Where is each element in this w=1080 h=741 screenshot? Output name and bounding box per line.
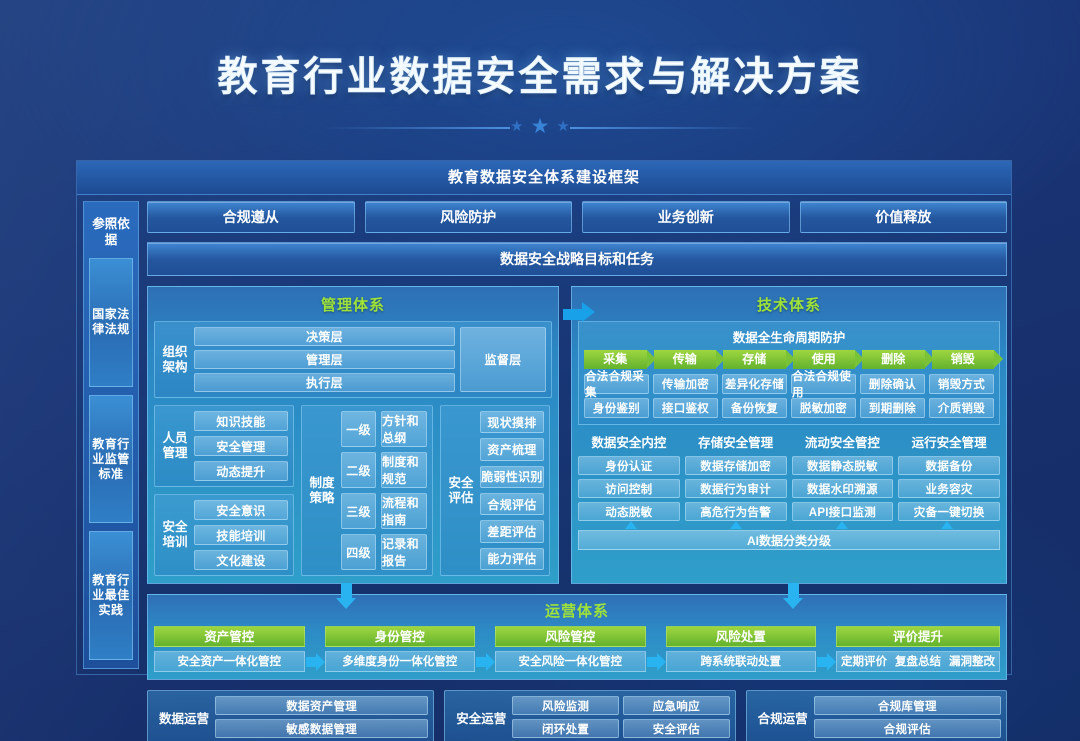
tech-column-head: 运行安全管理 (898, 432, 1000, 452)
tech-item[interactable]: 高危行为告警 (685, 502, 787, 521)
lifecycle-measure[interactable]: 到期删除 (860, 398, 925, 418)
lifecycle-stage-row: 采集 传输 存储 使用 删除 销毁 (584, 350, 994, 369)
ops-column-asset: 资产管控 安全资产一体化管控 (154, 626, 305, 672)
policy-group: 制度策略 一级 方针和总纲 二级 制度和规范 三级 (301, 405, 433, 576)
ops-arrow-icon (475, 626, 495, 672)
tech-item[interactable]: 数据水印溯源 (792, 479, 894, 498)
ai-classification-bar[interactable]: AI数据分类分级 (578, 530, 1000, 550)
strategy-bar: 数据安全战略目标和任务 (147, 242, 1007, 276)
ops-sub[interactable]: 安全资产一体化管控 (154, 651, 305, 672)
personnel-label: 人员管理 (160, 411, 194, 481)
bottom-item[interactable]: 数据资产管理 (215, 696, 428, 715)
star-group: ★ ★ ★ (0, 116, 1080, 137)
lifecycle-measure[interactable]: 脱敏加密 (791, 398, 856, 418)
page-title: 教育行业数据安全需求与解决方案 (0, 44, 1080, 102)
ops-head[interactable]: 风险处置 (666, 626, 817, 647)
assessment-item-vulnerability[interactable]: 脆弱性识别 (480, 466, 544, 488)
up-arrow-icon (625, 521, 637, 529)
compliance-operations-label: 合规运营 (752, 696, 814, 738)
data-operations-group: 数据运营 数据资产管理 敏感数据管理 (147, 690, 434, 741)
lifecycle-measure-row: 合法合规采集 传输加密 差异化存储 合法合规使用 删除确认 销毁方式 (584, 374, 994, 394)
policy-label: 制度策略 (307, 411, 341, 570)
org-layer-execution[interactable]: 执行层 (194, 373, 455, 392)
ops-sub-seg: 定期评价 (837, 652, 891, 672)
policy-level-4[interactable]: 四级 (341, 534, 376, 570)
ops-head[interactable]: 身份管控 (325, 626, 476, 647)
personnel-group: 人员管理 知识技能 安全管理 动态提升 (154, 405, 294, 487)
compliance-operations-group: 合规运营 合规库管理 合规评估 (746, 690, 1007, 741)
org-layer-management[interactable]: 管理层 (194, 350, 455, 369)
lifecycle-group: 数据全生命周期防护 采集 传输 存储 使用 删除 销毁 合法合规采集 传输加密 (578, 321, 1000, 425)
training-item-culture[interactable]: 文化建设 (194, 550, 288, 570)
ops-sub-seg: 复盘总结 (891, 652, 945, 672)
bottom-item[interactable]: 安全评估 (623, 719, 730, 738)
operations-columns: 资产管控 安全资产一体化管控 身份管控 多维度身份一体化管控 风险管控 安全风险… (154, 626, 1000, 672)
management-mid-row: 人员管理 知识技能 安全管理 动态提升 安全培训 安全意识 技能培训 (154, 405, 552, 576)
training-label: 安全培训 (160, 500, 194, 570)
lifecycle-stage-delete[interactable]: 删除 (862, 350, 925, 369)
pillar-risk[interactable]: 风险防护 (365, 201, 573, 233)
sidebar-item-standards[interactable]: 教育行业监管标准 (89, 395, 133, 524)
ops-sub-seg: 漏洞整改 (945, 652, 999, 672)
assessment-label: 安全评估 (446, 411, 480, 570)
bottom-item[interactable]: 闭环处置 (512, 719, 619, 738)
tech-column-runtime-security: 运行安全管理 数据备份 业务容灾 灾备一键切换 (898, 432, 1000, 521)
ops-arrow-icon (816, 626, 836, 672)
lifecycle-measure[interactable]: 备份恢复 (722, 398, 787, 418)
ai-arrow-group (578, 521, 1000, 529)
lifecycle-measure[interactable]: 合法合规使用 (791, 374, 856, 394)
ops-sub-multi[interactable]: 定期评价复盘总结漏洞整改 (836, 651, 1000, 672)
pillar-innovation[interactable]: 业务创新 (582, 201, 790, 233)
bottom-item[interactable]: 风险监测 (512, 696, 619, 715)
systems-row: 管理体系 组织架构 决策层 管理层 执行层 监督层 (147, 286, 1007, 584)
framework-container: 教育数据安全体系建设框架 参照依据 国家法律法规 教育行业监管标准 教育行业最佳… (76, 160, 1012, 675)
ops-column-risk-disposal: 风险处置 跨系统联动处置 (666, 626, 817, 672)
operations-panel: 运营体系 资产管控 安全资产一体化管控 身份管控 多维度身份一体化管控 风险管控… (147, 594, 1007, 680)
assessment-item-capability[interactable]: 能力评估 (480, 548, 544, 570)
ops-arrow-icon (305, 626, 325, 672)
tech-column-head: 流动安全管控 (792, 432, 894, 452)
policy-level-2[interactable]: 二级 (341, 452, 376, 488)
lifecycle-measure[interactable]: 介质销毁 (929, 398, 994, 418)
sidebar-header: 参照依据 (88, 208, 134, 258)
tech-column-head: 存储安全管理 (685, 432, 787, 452)
framework-content: 合规遵从 风险防护 业务创新 价值释放 数据安全战略目标和任务 管理体系 组织架… (147, 201, 1007, 741)
tech-column-storage-security: 存储安全管理 数据存储加密 数据行为审计 高危行为告警 (685, 432, 787, 521)
org-layer-supervision[interactable]: 监督层 (460, 327, 546, 392)
bottom-item[interactable]: 敏感数据管理 (215, 719, 428, 738)
policy-name-3[interactable]: 流程和指南 (381, 493, 427, 529)
star-icon: ★ (510, 119, 523, 134)
policy-level-1[interactable]: 一级 (341, 411, 376, 447)
lifecycle-measure-grid: 合法合规采集 传输加密 差异化存储 合法合规使用 删除确认 销毁方式 身份鉴别 … (584, 374, 994, 418)
lifecycle-stage-destroy[interactable]: 销毁 (932, 350, 995, 369)
org-structure-label: 组织架构 (160, 327, 194, 392)
tech-item[interactable]: API接口监测 (792, 502, 894, 521)
framework-heading: 教育数据安全体系建设框架 (77, 161, 1011, 195)
security-operations-label: 安全运营 (450, 696, 512, 738)
tech-column-internal-control: 数据安全内控 身份认证 访问控制 动态脱敏 (578, 432, 680, 521)
tech-column-flow-security: 流动安全管控 数据静态脱敏 数据水印溯源 API接口监测 (792, 432, 894, 521)
lifecycle-measure[interactable]: 身份鉴别 (584, 398, 649, 418)
title-decoration: ★ ★ ★ (0, 114, 1080, 140)
lifecycle-measure[interactable]: 传输加密 (653, 374, 718, 394)
lifecycle-measure[interactable]: 接口鉴权 (653, 398, 718, 418)
lifecycle-stage-store[interactable]: 存储 (723, 350, 786, 369)
personnel-item-improvement[interactable]: 动态提升 (194, 461, 288, 481)
data-operations-label: 数据运营 (153, 696, 215, 738)
policy-name-2[interactable]: 制度和规范 (381, 452, 427, 488)
lifecycle-stage-use[interactable]: 使用 (793, 350, 856, 369)
ops-sub[interactable]: 安全风险一体化管控 (495, 651, 646, 672)
bottom-item[interactable]: 应急响应 (623, 696, 730, 715)
tech-item[interactable]: 数据存储加密 (685, 456, 787, 475)
lifecycle-measure-row: 身份鉴别 接口鉴权 备份恢复 脱敏加密 到期删除 介质销毁 (584, 398, 994, 418)
lifecycle-measure[interactable]: 合法合规采集 (584, 374, 649, 394)
star-icon: ★ (531, 116, 550, 137)
ops-column-identity: 身份管控 多维度身份一体化管控 (325, 626, 476, 672)
personnel-item-security[interactable]: 安全管理 (194, 436, 288, 456)
up-arrow-icon (941, 521, 953, 529)
org-structure-group: 组织架构 决策层 管理层 执行层 监督层 (154, 321, 552, 398)
tech-item[interactable]: 业务容灾 (898, 479, 1000, 498)
pillar-value[interactable]: 价值释放 (800, 201, 1008, 233)
org-layer-decision[interactable]: 决策层 (194, 327, 455, 346)
bottom-operations-row: 数据运营 数据资产管理 敏感数据管理 安全运营 风险监测 应急响应 闭环处置 安… (147, 690, 1007, 741)
pillar-row: 合规遵从 风险防护 业务创新 价值释放 (147, 201, 1007, 233)
policy-name-1[interactable]: 方针和总纲 (381, 411, 427, 447)
ops-column-evaluation: 评价提升 定期评价复盘总结漏洞整改 (836, 626, 1000, 672)
star-icon: ★ (556, 119, 569, 134)
tech-item[interactable]: 灾备一键切换 (898, 502, 1000, 521)
assessment-item-asset[interactable]: 资产梳理 (480, 438, 544, 460)
policy-level-3[interactable]: 三级 (341, 493, 376, 529)
tech-item[interactable]: 访问控制 (578, 479, 680, 498)
tech-item[interactable]: 动态脱敏 (578, 502, 680, 521)
lifecycle-stage-collect[interactable]: 采集 (584, 350, 647, 369)
management-system-panel: 管理体系 组织架构 决策层 管理层 执行层 监督层 (147, 286, 559, 584)
title-block: 教育行业数据安全需求与解决方案 ★ ★ ★ (0, 44, 1080, 140)
personnel-item-knowledge[interactable]: 知识技能 (194, 411, 288, 431)
assessment-item-survey[interactable]: 现状摸排 (480, 411, 544, 433)
ops-head[interactable]: 评价提升 (836, 626, 1000, 647)
ops-column-risk-control: 风险管控 安全风险一体化管控 (495, 626, 646, 672)
ops-sub[interactable]: 跨系统联动处置 (666, 651, 817, 672)
sidebar-item-practices[interactable]: 教育行业最佳实践 (89, 531, 133, 660)
technical-title: 技术体系 (578, 291, 1000, 321)
ops-head[interactable]: 资产管控 (154, 626, 305, 647)
tech-item[interactable]: 身份认证 (578, 456, 680, 475)
tech-column-head: 数据安全内控 (578, 432, 680, 452)
assessment-item-compliance[interactable]: 合规评估 (480, 493, 544, 515)
lifecycle-measure[interactable]: 销毁方式 (929, 374, 994, 394)
bottom-item[interactable]: 合规库管理 (814, 696, 1001, 715)
ops-arrow-icon (646, 626, 666, 672)
ai-classification-row: AI数据分类分级 (578, 530, 1000, 550)
bottom-item[interactable]: 合规评估 (814, 719, 1001, 738)
policy-name-4[interactable]: 记录和报告 (381, 534, 427, 570)
management-title: 管理体系 (154, 291, 552, 321)
reference-sidebar: 参照依据 国家法律法规 教育行业监管标准 教育行业最佳实践 (83, 201, 139, 669)
tech-item[interactable]: 数据备份 (898, 456, 1000, 475)
tech-item[interactable]: 数据静态脱敏 (792, 456, 894, 475)
training-item-awareness[interactable]: 安全意识 (194, 500, 288, 520)
up-arrow-icon (836, 521, 848, 529)
security-operations-group: 安全运营 风险监测 应急响应 闭环处置 安全评估 (444, 690, 735, 741)
operations-title: 运营体系 (154, 598, 1000, 626)
ops-sub[interactable]: 多维度身份一体化管控 (325, 651, 476, 672)
lifecycle-measure[interactable]: 差异化存储 (722, 374, 787, 394)
technical-columns: 数据安全内控 身份认证 访问控制 动态脱敏 存储安全管理 数据存储加密 数据行为… (578, 432, 1000, 521)
sidebar-item-laws[interactable]: 国家法律法规 (89, 258, 133, 387)
lifecycle-measure[interactable]: 删除确认 (860, 374, 925, 394)
lifecycle-stage-transmit[interactable]: 传输 (654, 350, 717, 369)
ops-head[interactable]: 风险管控 (495, 626, 646, 647)
pillar-compliance[interactable]: 合规遵从 (147, 201, 355, 233)
technical-system-panel: 技术体系 数据全生命周期防护 采集 传输 存储 使用 删除 销毁 合法合规采集 (571, 286, 1007, 584)
assessment-group: 安全评估 现状摸排 资产梳理 脆弱性识别 合规评估 差距评估 能力评估 (440, 405, 550, 576)
up-arrow-icon (730, 521, 742, 529)
personnel-training-column: 人员管理 知识技能 安全管理 动态提升 安全培训 安全意识 技能培训 (154, 405, 294, 576)
lifecycle-heading: 数据全生命周期防护 (584, 326, 994, 350)
training-group: 安全培训 安全意识 技能培训 文化建设 (154, 494, 294, 576)
tech-item[interactable]: 数据行为审计 (685, 479, 787, 498)
assessment-item-gap[interactable]: 差距评估 (480, 520, 544, 542)
training-item-skills[interactable]: 技能培训 (194, 525, 288, 545)
